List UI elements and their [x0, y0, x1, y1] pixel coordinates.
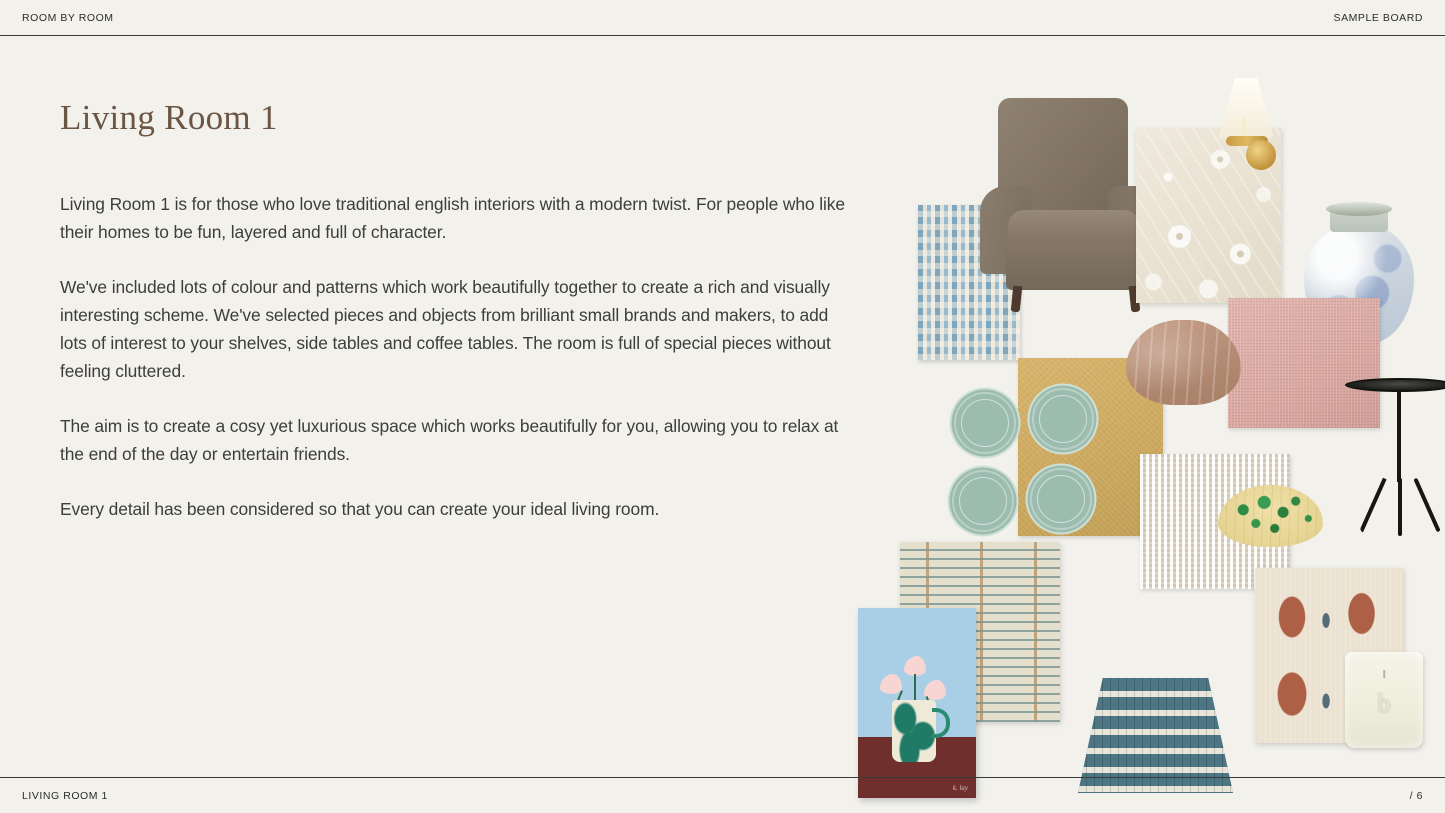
frosted-glass-candle-image: b [1345, 652, 1423, 748]
armchair-leg [1011, 286, 1023, 313]
sconce-backplate [1246, 140, 1276, 170]
sage-scalloped-placemat [1030, 468, 1092, 530]
sconce-lampshade [1218, 78, 1274, 138]
painting-patterned-jug [892, 700, 936, 762]
sage-scalloped-placemat [1032, 388, 1094, 450]
brass-wall-sconce-image [1210, 78, 1280, 208]
black-iron-side-table-image [1345, 378, 1445, 538]
text-column: Living Room 1 Living Room 1 is for those… [60, 98, 850, 523]
moodboard-collage: k. lay b [840, 60, 1445, 760]
header-left-label: ROOM BY ROOM [22, 12, 114, 24]
body-paragraph-3: The aim is to create a cosy yet luxuriou… [60, 412, 850, 468]
body-paragraph-2: We've included lots of colour and patter… [60, 273, 850, 385]
painting-flower [880, 674, 902, 694]
candle-brand-logo: b [1378, 689, 1391, 719]
slide-page: ROOM BY ROOM SAMPLE BOARD Living Room 1 … [0, 0, 1445, 813]
body-paragraph-4: Every detail has been considered so that… [60, 495, 850, 523]
side-table-leg [1359, 478, 1386, 533]
vase-rim [1326, 202, 1392, 216]
body-paragraph-1: Living Room 1 is for those who love trad… [60, 190, 850, 246]
sage-scalloped-placemat [952, 470, 1014, 532]
side-table-leg [1413, 478, 1440, 533]
painting-flower [904, 656, 926, 676]
page-footer: LIVING ROOM 1 / 6 [0, 777, 1445, 813]
footer-left-label: LIVING ROOM 1 [22, 790, 108, 802]
side-table-stem [1397, 390, 1401, 482]
shell-dish-body [1218, 485, 1323, 547]
green-splatter-shell-dish-image [1218, 485, 1323, 547]
side-table-leg [1398, 478, 1402, 536]
lampshade-body [1078, 678, 1233, 793]
teal-striped-pleated-lampshade-image [1078, 678, 1233, 793]
header-right-label: SAMPLE BOARD [1334, 12, 1423, 24]
leaf-vessel-body [1126, 320, 1241, 405]
armchair-base [1006, 246, 1146, 290]
side-table-top [1345, 378, 1445, 392]
candle-wick [1383, 670, 1385, 678]
sage-scalloped-placemat [954, 392, 1016, 454]
page-title: Living Room 1 [60, 98, 850, 138]
flower-still-life-painting-image: k. lay [858, 608, 976, 798]
painting-jug-handle [932, 708, 950, 738]
terracotta-leaf-vessel-image [1126, 320, 1241, 405]
footer-page-indicator: / 6 [1410, 790, 1423, 802]
page-header: ROOM BY ROOM SAMPLE BOARD [0, 0, 1445, 36]
